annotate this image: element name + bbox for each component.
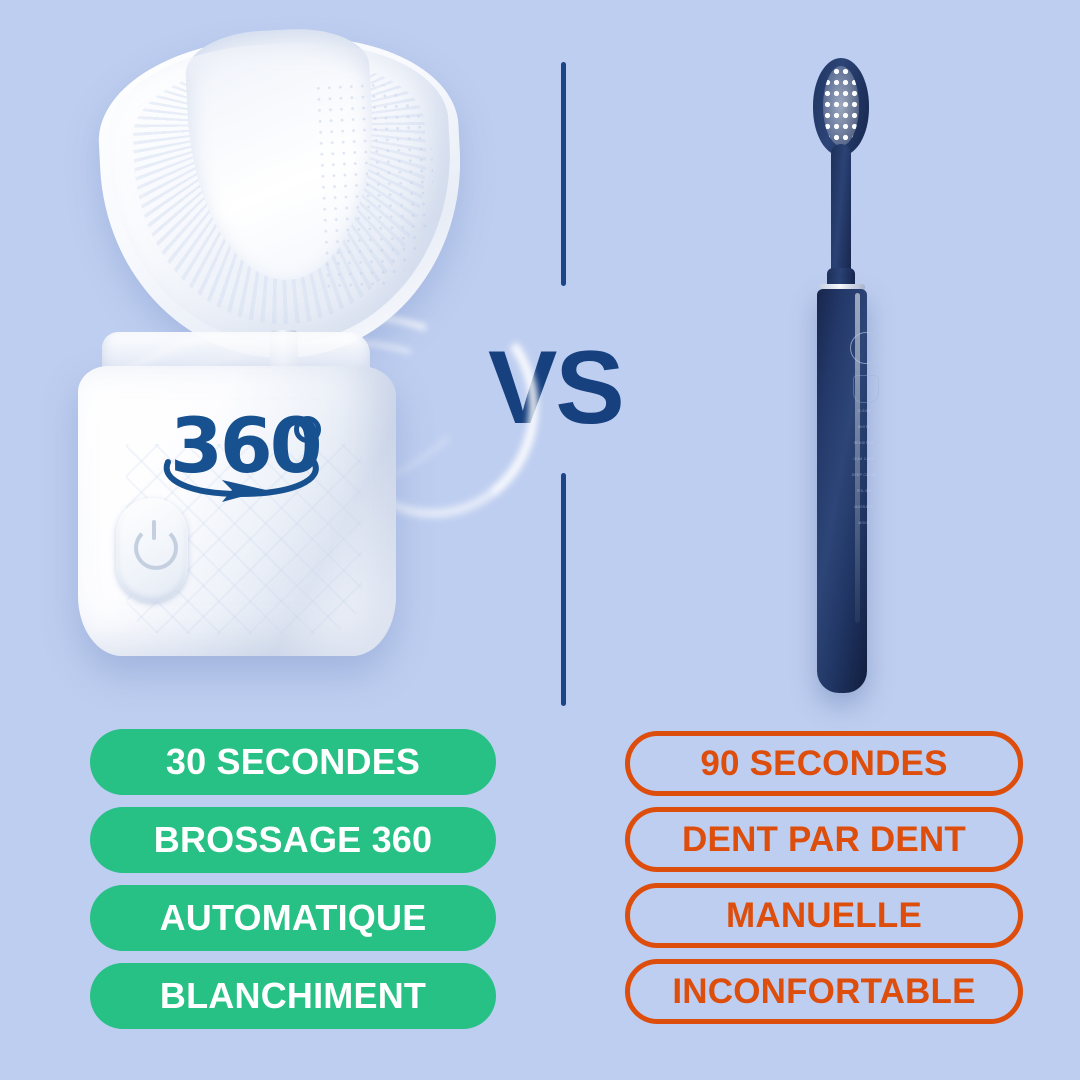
con-pill: MANUELLE	[625, 883, 1023, 948]
con-pill: DENT PAR DENT	[625, 807, 1023, 872]
toothbrush-bristles	[823, 66, 859, 146]
handle-mode-label: MASSAGE	[843, 505, 885, 509]
handle-mode-label: WHITE	[843, 425, 885, 429]
handle-mode-labels: CLEAN WHITE SENSITIVE GUM CARE DEEP CLEA…	[843, 409, 885, 537]
pro-pill: BLANCHIMENT	[90, 963, 496, 1029]
u-shaped-brush-head	[102, 38, 462, 358]
toothbrush-neck	[831, 144, 851, 286]
vertical-divider-top	[561, 62, 566, 286]
handle-mode-label: DEEP CLEAN	[843, 473, 885, 477]
toothbrush-handle: CLEAN WHITE SENSITIVE GUM CARE DEEP CLEA…	[817, 289, 867, 693]
badge-degree-icon	[294, 416, 321, 443]
pros-list: 30 SECONDES BROSSAGE 360 AUTOMATIQUE BLA…	[90, 729, 496, 1029]
power-button[interactable]	[116, 498, 188, 602]
handle-mode-icon	[853, 375, 879, 403]
badge-360-icon: 360	[154, 410, 334, 510]
cons-list: 90 SECONDES DENT PAR DENT MANUELLE INCON…	[625, 731, 1023, 1024]
vertical-divider-bottom	[561, 473, 566, 706]
comparison-infographic: VS 360	[0, 0, 1080, 1080]
brush-head-rim-shading	[104, 35, 459, 352]
handle-mode-label: SENSITIVE	[843, 441, 885, 445]
device-body: 360	[72, 332, 402, 662]
handle-power-button[interactable]	[850, 332, 882, 364]
pro-pill: AUTOMATIQUE	[90, 885, 496, 951]
handle-mode-label: MODE	[843, 521, 885, 525]
right-product-image: CLEAN WHITE SENSITIVE GUM CARE DEEP CLEA…	[795, 58, 887, 698]
pro-pill: 30 SECONDES	[90, 729, 496, 795]
con-pill: 90 SECONDES	[625, 731, 1023, 796]
pro-pill: BROSSAGE 360	[90, 807, 496, 873]
left-product-image: 360	[30, 10, 510, 700]
con-pill: INCONFORTABLE	[625, 959, 1023, 1024]
power-icon	[134, 526, 178, 570]
handle-mode-label: POLISH	[843, 489, 885, 493]
handle-mode-label: GUM CARE	[843, 457, 885, 461]
handle-mode-label: CLEAN	[843, 409, 885, 413]
